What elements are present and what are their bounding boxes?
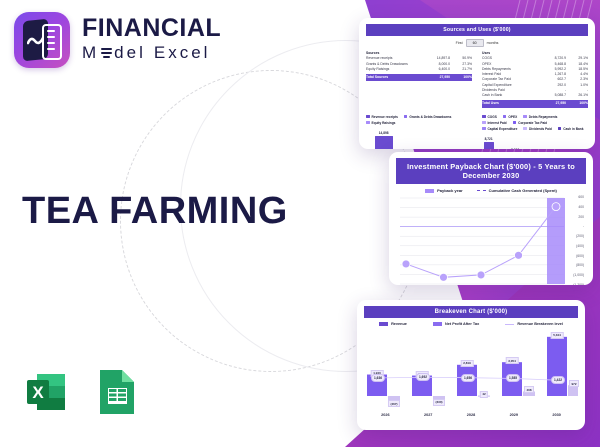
bar-value-label: 3,054 <box>506 357 519 364</box>
legend-item: Dividends Paid <box>523 127 551 131</box>
legend-swatch-icon <box>523 115 527 119</box>
bar-column: 5,469 <box>497 134 507 149</box>
breakeven-point-label: 1,692 <box>416 373 430 381</box>
breakeven-x-axis-labels: 20262027202820292030 <box>364 413 578 417</box>
panel1-title: Sources and Uses ($'000) <box>366 24 588 36</box>
legend-item: Cash in Bank <box>558 127 584 131</box>
breakeven-chart-svg <box>364 328 578 410</box>
legend-item: Corporate Tax Paid <box>513 121 548 125</box>
legend-line-icon <box>505 324 514 325</box>
legend-item: Debts Repayments <box>523 115 557 119</box>
legend-swatch-icon <box>503 115 507 119</box>
legend-item: Revenue receipts <box>366 115 398 119</box>
breakeven-panel[interactable]: Breakeven Chart ($'000) RevenueNet Profi… <box>357 300 585 430</box>
y-tick-label: 200 <box>578 215 584 219</box>
bar-value-label: 42 <box>480 391 488 398</box>
sources-chart[interactable]: Revenue receiptsGrants & Debts Drawdowns… <box>366 111 472 149</box>
brand-line-2: M del Excel <box>82 41 221 65</box>
brand-line-2-c: Excel <box>154 41 211 65</box>
page-title: TEA FARMING <box>22 192 288 230</box>
bar-column: 603 <box>537 134 547 149</box>
brand-logo: FINANCIAL M del Excel <box>14 12 221 68</box>
legend-swatch-icon <box>404 115 408 119</box>
legend-swatch-icon <box>558 127 562 131</box>
legend-item: Payback year <box>425 188 463 193</box>
google-sheets-icon <box>96 368 138 416</box>
breakeven-chart: 1,9401,8482,8193,0545,344(467)(330)42408… <box>364 328 578 410</box>
panel1-charts: Revenue receiptsGrants & Debts Drawdowns… <box>366 111 588 149</box>
bar-value-label: 972 <box>569 380 579 387</box>
breakeven-point-label: 1,636 <box>371 374 385 382</box>
legend-item: Cumulative Cash Generated (Spent) <box>477 188 557 193</box>
breakeven-point-label: 1,656 <box>461 374 475 382</box>
bar-value-label: (330) <box>433 399 445 406</box>
payback-chart-svg <box>398 195 584 285</box>
svg-text:X: X <box>32 383 44 402</box>
legend-swatch-icon <box>366 115 370 119</box>
chart-document-icon <box>14 12 70 68</box>
breakeven-point-label: 1,422 <box>551 376 565 384</box>
legend-item: OPEX <box>503 115 517 119</box>
payback-legend: Payback yearCumulative Cash Generated (S… <box>396 188 586 193</box>
months-input[interactable]: 60 <box>466 39 484 47</box>
app-icons: X <box>22 368 138 416</box>
y-tick-label: 400 <box>578 205 584 209</box>
legend-item: Net Profit After Tax <box>433 322 479 326</box>
x-tick-label: 2030 <box>552 413 560 417</box>
sources-chart-bars: 14,8985,0006,400 <box>366 128 472 149</box>
sources-and-uses-panel[interactable]: Sources and Uses ($'000) First 60 months… <box>359 18 595 149</box>
sources-uses-tables: Sources Revenue receipts14,897.850.9%Gra… <box>366 51 588 108</box>
brand-line-2-a: M <box>82 41 99 65</box>
panel2-title: Investment Payback Chart ($'000) - 5 Yea… <box>396 158 586 184</box>
bar-value-label: 5,344 <box>551 332 564 339</box>
microsoft-excel-icon: X <box>22 368 70 416</box>
legend-swatch-icon <box>433 322 442 326</box>
y-tick-label: (1,000) <box>573 273 584 277</box>
legend-swatch-icon <box>379 322 388 326</box>
bar-column: 14,898 <box>375 128 393 149</box>
bar-column: 5,000 <box>410 128 428 149</box>
legend-swatch-icon <box>482 127 486 131</box>
legend-item: Revenue <box>379 322 407 326</box>
bar-value-label: 5,992 <box>511 148 519 149</box>
bar-column: - <box>563 134 573 149</box>
brand-line-1: FINANCIAL <box>82 16 221 41</box>
brand-text: FINANCIAL M del Excel <box>82 16 221 65</box>
panel3-title: Breakeven Chart ($'000) <box>364 306 578 318</box>
months-suffix-label: months <box>487 41 499 45</box>
legend-swatch-icon <box>523 127 527 131</box>
bar-column: 5,992 <box>510 134 520 149</box>
y-tick-label: (400) <box>576 244 584 248</box>
sources-total-row: Total Sources 27,950 100% <box>366 74 472 81</box>
legend-item: Capital Expenditure <box>482 127 517 131</box>
bar-value-label: 408 <box>524 386 534 393</box>
bar <box>375 136 393 149</box>
x-tick-label: 2028 <box>467 413 475 417</box>
legend-line-icon <box>477 190 486 191</box>
bar <box>484 142 494 149</box>
y-tick-label: (1,200) <box>573 283 584 285</box>
table-row: Cash in Bank5,088.726.1% <box>482 93 588 98</box>
uses-chart[interactable]: COGSOPEXDebts RepaymentsInterest PaidCor… <box>482 111 588 149</box>
y-tick-label: (200) <box>576 234 584 238</box>
bar-value-label: (467) <box>388 400 400 407</box>
legend-swatch-icon <box>425 189 434 193</box>
bar-column: 5,089 <box>576 134 586 149</box>
legend-item: Interest Paid <box>482 121 507 125</box>
breakeven-legend: RevenueNet Profit After TaxRevenue Break… <box>366 322 576 326</box>
x-tick-label: 2029 <box>510 413 518 417</box>
y-tick-label: 600 <box>578 195 584 199</box>
legend-swatch-icon <box>366 121 370 125</box>
months-prefix-label: First <box>456 41 463 45</box>
sources-table: Sources Revenue receipts14,897.850.9%Gra… <box>366 51 472 108</box>
bar-value-label: 14,898 <box>379 131 389 135</box>
payback-chart: 600400200-(200)(400)(600)(800)(1,000)(1,… <box>398 195 584 285</box>
y-tick-label: (800) <box>576 263 584 267</box>
legend-item: Revenue Breakeven level <box>505 322 563 326</box>
bar-column: 6,400 <box>445 128 463 149</box>
bar-column: 1,268 <box>523 134 533 149</box>
payback-y-axis-labels: 600400200-(200)(400)(600)(800)(1,000)(1,… <box>567 195 584 285</box>
bar-value-label: 2,819 <box>461 360 474 367</box>
y-tick-label: - <box>583 224 584 228</box>
legend-swatch-icon <box>513 121 517 125</box>
logo-list-lines-icon <box>42 24 62 60</box>
uses-chart-legend: COGSOPEXDebts RepaymentsInterest PaidCor… <box>482 115 588 131</box>
bar-value-label: 8,721 <box>485 137 493 141</box>
legend-item: Equity Raisings <box>366 121 395 125</box>
breakeven-point-label: 1,585 <box>506 374 520 382</box>
x-tick-label: 2026 <box>381 413 389 417</box>
brand-line-2-b: del <box>114 41 146 65</box>
promo-slide: FINANCIAL M del Excel TEA FARMING X <box>0 0 600 447</box>
bar-column: 292 <box>550 134 560 149</box>
uses-table: Uses COGS8,720.929.1%OPEX5,468.818.4%Deb… <box>482 51 588 108</box>
legend-swatch-icon <box>482 115 486 119</box>
y-tick-label: (600) <box>576 254 584 258</box>
legend-item: Grants & Debts Drawdowns <box>404 115 451 119</box>
sources-chart-legend: Revenue receiptsGrants & Debts Drawdowns… <box>366 115 472 125</box>
x-tick-label: 2027 <box>424 413 432 417</box>
brand-o-lines-icon <box>100 46 113 59</box>
legend-swatch-icon <box>482 121 486 125</box>
table-row: Equity Raisings6,400.021.7% <box>366 67 472 72</box>
bar-column: 8,721 <box>484 134 494 149</box>
uses-total-row: Total Uses 27,950 100% <box>482 100 588 107</box>
legend-item: COGS <box>482 115 497 119</box>
investment-payback-panel[interactable]: Investment Payback Chart ($'000) - 5 Yea… <box>389 152 593 285</box>
months-control[interactable]: First 60 months <box>366 39 588 47</box>
uses-chart-bars: 8,7215,4695,9921,268603292-5,089 <box>482 134 588 149</box>
